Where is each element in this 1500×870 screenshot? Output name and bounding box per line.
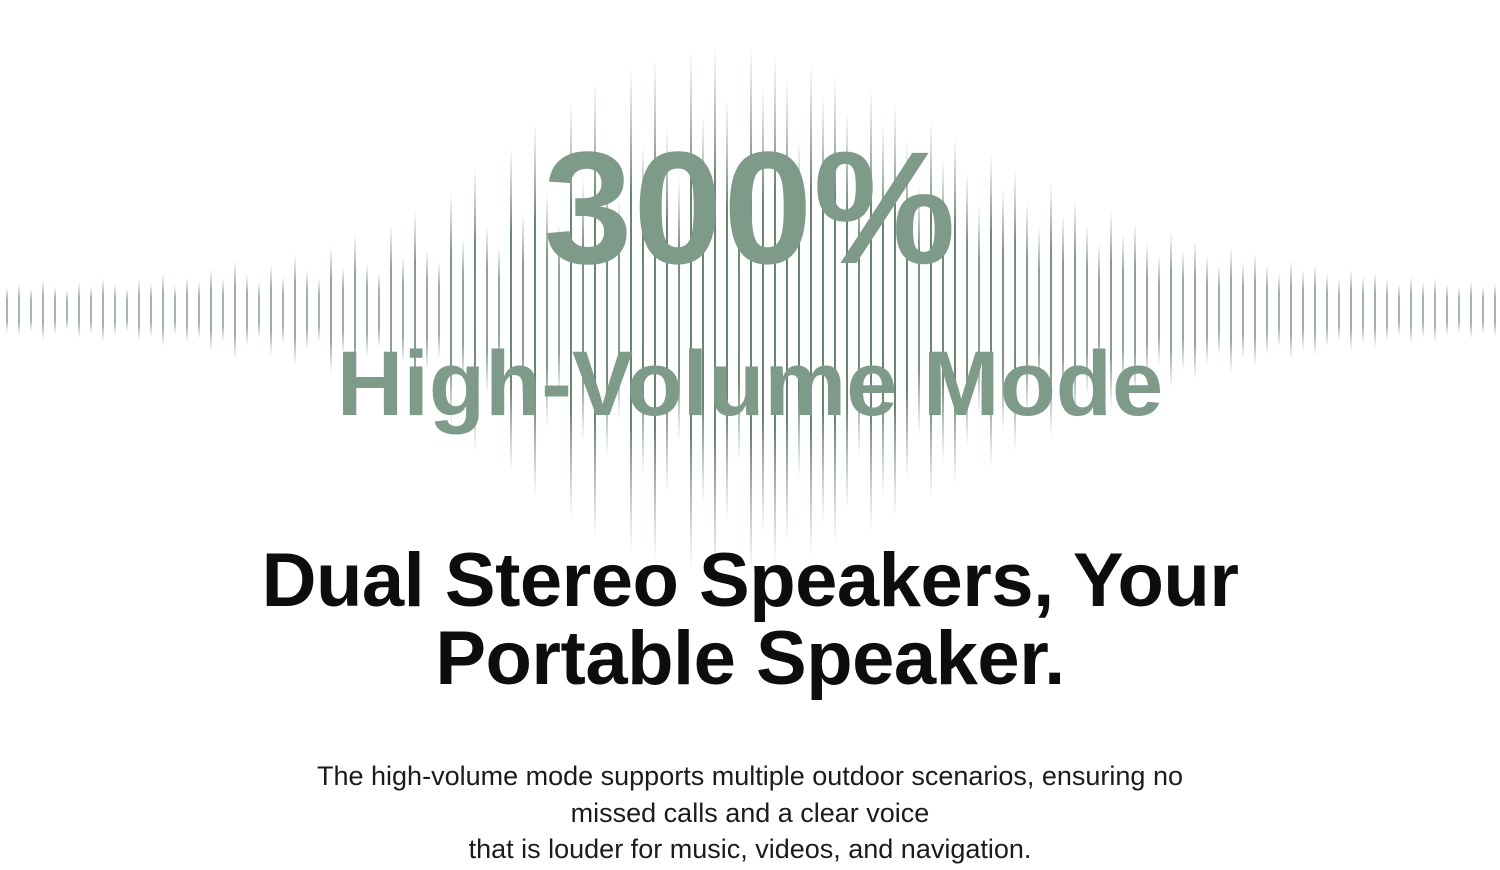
waveform-bar xyxy=(66,290,68,331)
waveform-bar xyxy=(1470,281,1472,339)
waveform-bar xyxy=(78,282,80,338)
waveform-bar xyxy=(1338,279,1340,341)
waveform-bar xyxy=(42,280,44,340)
headline-line-2: Portable Speaker. xyxy=(0,620,1500,698)
waveform-bar xyxy=(174,285,176,335)
stat-percentage: 300% xyxy=(0,128,1500,288)
body-line-2: missed calls and a clear voice xyxy=(0,795,1500,832)
waveform-bar xyxy=(126,288,128,333)
page-title: Dual Stereo Speakers, Your Portable Spea… xyxy=(0,542,1500,699)
waveform-bar xyxy=(138,279,140,341)
waveform-bar xyxy=(150,283,152,338)
waveform-bar xyxy=(258,282,260,338)
waveform-bar xyxy=(1422,282,1424,338)
body-line-3: that is louder for music, videos, and na… xyxy=(0,831,1500,868)
waveform-bar xyxy=(1494,283,1496,337)
waveform-bar xyxy=(18,284,20,337)
waveform-bar xyxy=(6,287,8,333)
waveform-bar xyxy=(198,281,200,339)
waveform-bar xyxy=(114,284,116,336)
waveform-bar xyxy=(1398,284,1400,337)
headline-line-1: Dual Stereo Speakers, Your xyxy=(0,542,1500,620)
body-line-1: The high-volume mode supports multiple o… xyxy=(0,758,1500,795)
body-description: The high-volume mode supports multiple o… xyxy=(0,758,1500,868)
waveform-bar xyxy=(1386,279,1388,341)
waveform-bar xyxy=(54,286,56,335)
waveform-bar xyxy=(1458,287,1460,333)
waveform-bar xyxy=(1446,284,1448,336)
hero-subtitle: High-Volume Mode xyxy=(0,338,1500,430)
waveform-bar xyxy=(30,288,32,332)
promo-banner: 300% High-Volume Mode Dual Stereo Speake… xyxy=(0,0,1500,870)
waveform-bar xyxy=(90,286,92,334)
waveform-bar xyxy=(1482,286,1484,335)
